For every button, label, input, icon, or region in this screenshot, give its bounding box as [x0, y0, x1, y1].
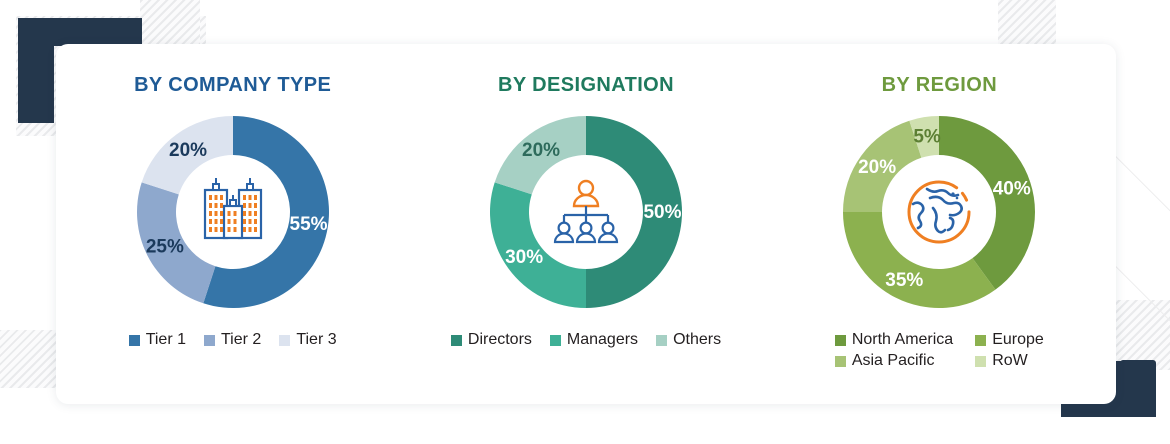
- legend-swatch-icon: [835, 356, 846, 367]
- legend-item[interactable]: Asia Pacific: [835, 352, 935, 370]
- legend-region: North AmericaEuropeAsia PacificRoW: [835, 331, 1044, 370]
- legend-label: Others: [673, 331, 721, 349]
- decor-corner-top-left-leg: [18, 18, 54, 123]
- slice-percent-label: 50%: [643, 202, 681, 223]
- legend-swatch-icon: [975, 335, 986, 346]
- slice-percent-label: 25%: [145, 237, 183, 258]
- legend-swatch-icon: [129, 335, 140, 346]
- legend-swatch-icon: [451, 335, 462, 346]
- infographic-stage: BY COMPANY TYPE 55%25%20%: [0, 0, 1170, 444]
- legend-item[interactable]: Tier 3: [279, 331, 336, 349]
- donut-chart-designation: 50%30%20%: [481, 107, 691, 317]
- panel-title-company-type: BY COMPANY TYPE: [134, 74, 331, 97]
- legend-swatch-icon: [279, 335, 290, 346]
- donut-chart-region: 40%35%20%5%: [834, 107, 1044, 317]
- slice-percent-label: 20%: [858, 157, 896, 178]
- slice-percent-label: 20%: [522, 140, 560, 161]
- panel-by-designation: BY DESIGNATION 50%30%20%: [409, 44, 762, 404]
- infographic-card: BY COMPANY TYPE 55%25%20%: [56, 44, 1116, 404]
- decor-diagonal-line-3: [1109, 150, 1170, 228]
- legend-label: Europe: [992, 331, 1044, 349]
- legend-item[interactable]: Europe: [975, 331, 1044, 349]
- legend-company-type: Tier 1Tier 2Tier 3: [129, 331, 337, 349]
- legend-label: Managers: [567, 331, 638, 349]
- legend-item[interactable]: North America: [835, 331, 953, 349]
- legend-swatch-icon: [656, 335, 667, 346]
- panel-title-region: BY REGION: [882, 74, 997, 97]
- legend-item[interactable]: Tier 1: [129, 331, 186, 349]
- legend-label: Asia Pacific: [852, 352, 935, 370]
- slice-percent-label: 40%: [993, 178, 1031, 199]
- legend-swatch-icon: [204, 335, 215, 346]
- panel-title-designation: BY DESIGNATION: [498, 74, 674, 97]
- slice-percent-label: 55%: [289, 214, 327, 235]
- legend-label: North America: [852, 331, 953, 349]
- legend-swatch-icon: [975, 356, 986, 367]
- legend-label: Tier 1: [146, 331, 186, 349]
- legend-item[interactable]: Tier 2: [204, 331, 261, 349]
- legend-label: Tier 3: [296, 331, 336, 349]
- panel-by-company-type: BY COMPANY TYPE 55%25%20%: [56, 44, 409, 404]
- donut-chart-company-type: 55%25%20%: [128, 107, 338, 317]
- panel-by-region: BY REGION 40%35%20%5%: [763, 44, 1116, 404]
- legend-label: Directors: [468, 331, 532, 349]
- globe-icon: [897, 170, 981, 254]
- legend-item[interactable]: Directors: [451, 331, 532, 349]
- legend-item[interactable]: RoW: [975, 352, 1028, 370]
- org-chart-people-icon: [544, 170, 628, 254]
- legend-swatch-icon: [835, 335, 846, 346]
- legend-designation: DirectorsManagersOthers: [451, 331, 721, 349]
- slice-percent-label: 20%: [169, 140, 207, 161]
- slice-percent-label: 35%: [886, 270, 924, 291]
- office-buildings-icon: [191, 170, 275, 254]
- legend-swatch-icon: [550, 335, 561, 346]
- decor-corner-bottom-right-leg: [1120, 360, 1156, 417]
- legend-label: RoW: [992, 352, 1028, 370]
- legend-item[interactable]: Managers: [550, 331, 638, 349]
- legend-item[interactable]: Others: [656, 331, 721, 349]
- slice-percent-label: 30%: [505, 247, 543, 268]
- legend-label: Tier 2: [221, 331, 261, 349]
- slice-percent-label: 5%: [914, 126, 942, 147]
- decor-corner-top-left-arm: [18, 18, 142, 46]
